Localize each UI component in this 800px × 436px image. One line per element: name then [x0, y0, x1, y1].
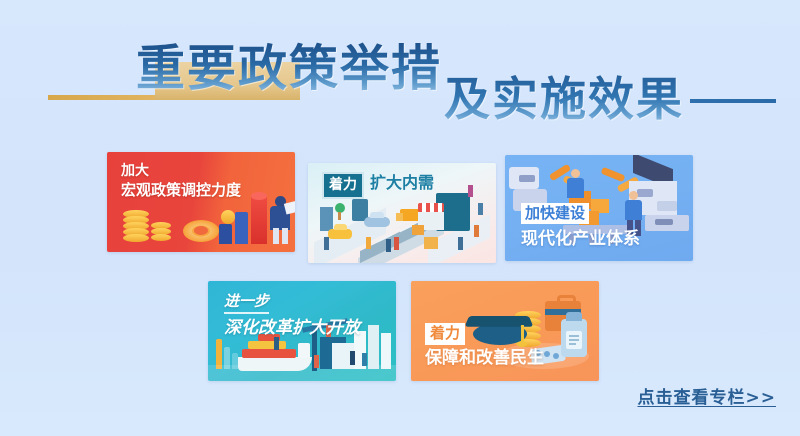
card3-line1: 加快建设	[521, 203, 589, 224]
card-macro-policy[interactable]: 加大 宏观政策调控力度	[107, 152, 295, 252]
page-title-line1: 重要政策举措	[136, 40, 442, 96]
card2-tag: 着力	[322, 172, 364, 199]
card1-caption: 加大 宏观政策调控力度	[121, 163, 241, 200]
card2-line2: 扩大内需	[370, 172, 434, 193]
card2-line1: 着力	[329, 177, 357, 193]
page-title-line2: 及实施效果	[444, 72, 684, 126]
card3-caption: 加快建设 现代化产业体系	[521, 203, 640, 250]
card-reform-opening[interactable]: 进一步 深化改革扩大开放	[208, 281, 396, 381]
banner-header: 重要政策举措 及实施效果	[0, 0, 800, 140]
card4-line2: 深化改革扩大开放	[224, 317, 360, 339]
card1-line2: 宏观政策调控力度	[121, 181, 241, 200]
view-column-link[interactable]: 点击查看专栏>>	[638, 383, 777, 408]
card5-line1: 着力	[430, 324, 460, 342]
card5-tag: 着力	[425, 323, 465, 345]
card5-line2: 保障和改善民生	[425, 347, 544, 369]
card4-line1: 进一步	[224, 292, 269, 314]
card-peoples-livelihood[interactable]: 着力 保障和改善民生	[411, 281, 599, 381]
blue-rule-right	[690, 99, 776, 103]
card3-line2: 现代化产业体系	[521, 228, 640, 250]
banner-root: 重要政策举措 及实施效果	[0, 0, 800, 436]
card4-caption: 进一步 深化改革扩大开放	[224, 291, 360, 339]
card-industrial-system[interactable]: 加快建设 现代化产业体系	[505, 155, 693, 261]
card-domestic-demand[interactable]: 着力 扩大内需	[308, 163, 496, 263]
card1-line1: 加大	[121, 163, 241, 180]
